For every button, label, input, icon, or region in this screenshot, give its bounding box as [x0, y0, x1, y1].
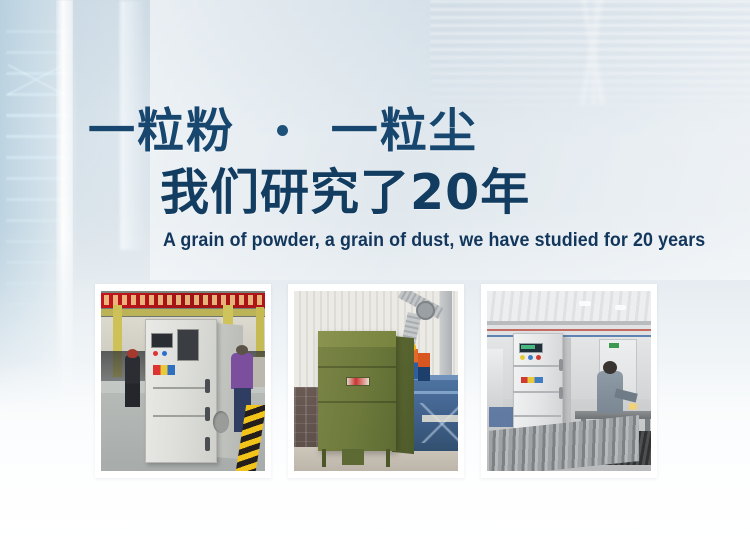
photo2-unit-seam-2	[318, 401, 396, 403]
photo1-brand-label	[153, 365, 175, 375]
photo3-cabinet-seam-3	[513, 415, 561, 417]
photo3-display-readout	[521, 345, 535, 349]
photo2-lift-label	[422, 415, 458, 422]
photo-green-dust-collector	[294, 291, 458, 471]
headline-line-2: 我们研究了20年	[160, 168, 530, 217]
photo3-exit-sign	[609, 343, 619, 348]
photo3-handle-1	[559, 359, 563, 371]
photo1-beam	[101, 309, 265, 316]
photo2-lift-rail-2	[412, 391, 458, 394]
photo1-inverter-panel	[177, 329, 199, 361]
photo2-nameplate	[346, 377, 370, 386]
photo-gallery	[95, 284, 657, 478]
headline-line-1: 一粒粉 一粒尘	[88, 108, 478, 155]
dot-separator-icon	[277, 125, 288, 136]
photo1-handle-3	[205, 437, 210, 451]
photo1-worker-left-head	[127, 349, 138, 358]
photo3-spark	[629, 403, 643, 410]
photo3-worker-head	[603, 361, 617, 374]
photo1-led-red	[153, 351, 158, 356]
photo2-worker-second	[418, 353, 430, 381]
photo1-worker-purple-head	[236, 345, 248, 355]
headline-phrase-1: 一粒粉	[88, 104, 235, 159]
photo1-worker-purple-shirt	[231, 353, 253, 389]
photo1-control-panel	[151, 333, 173, 348]
photo2-leg-2	[386, 449, 390, 467]
photo3-ceiling-beam	[487, 321, 651, 325]
photo3-handle-2	[559, 387, 563, 399]
photo1-worker-background	[253, 357, 265, 387]
photo3-lamp-2	[615, 305, 626, 310]
photo3-blue-crate	[489, 407, 515, 427]
photo2-unit-top	[318, 331, 396, 347]
photo1-worker-left-body	[125, 355, 140, 407]
photo-frame-2[interactable]	[288, 284, 464, 478]
photo1-banner-text	[104, 295, 265, 305]
photo3-cabinet-seam-2	[513, 391, 561, 393]
photo1-led-blue	[162, 351, 167, 356]
photo3-brand-label	[521, 377, 543, 383]
photo1-handle-1	[205, 379, 210, 393]
photo3-lamp-1	[579, 301, 591, 306]
photo3-figure-left	[487, 349, 503, 409]
photo3-button-blue	[528, 355, 533, 360]
photo-frame-1[interactable]	[95, 284, 271, 478]
photo2-lift-scissor-arms	[416, 403, 458, 443]
headline-phrase-2: 一粒尘	[331, 104, 478, 159]
photo-factory-grey-cabinet	[101, 291, 265, 471]
photo-frame-3[interactable]	[481, 284, 657, 478]
photo2-unit-seam-1	[318, 366, 396, 368]
photo3-ceiling	[487, 291, 651, 325]
photo1-handle-2	[205, 407, 210, 421]
photo3-button-yellow	[520, 355, 525, 360]
photo1-door-seam-2	[153, 415, 205, 417]
photo1-inspection-port	[213, 411, 229, 433]
photo2-unit-front	[318, 331, 396, 451]
photo2-fan-icon	[416, 301, 435, 320]
photo1-door-seam-1	[153, 387, 205, 389]
photo3-button-red	[536, 355, 541, 360]
photo3-cabinet-seam-1	[513, 365, 561, 367]
photo3-pipe-red	[487, 329, 651, 331]
headline-subtitle: A grain of powder, a grain of dust, we h…	[163, 230, 705, 252]
photo2-leg-1	[322, 449, 326, 467]
promo-banner: 一粒粉 一粒尘 我们研究了20年 A grain of powder, a gr…	[0, 0, 750, 550]
photo2-hopper	[342, 449, 364, 465]
photo-workshop-white-cabinet	[487, 291, 651, 471]
factory-post	[56, 0, 73, 400]
